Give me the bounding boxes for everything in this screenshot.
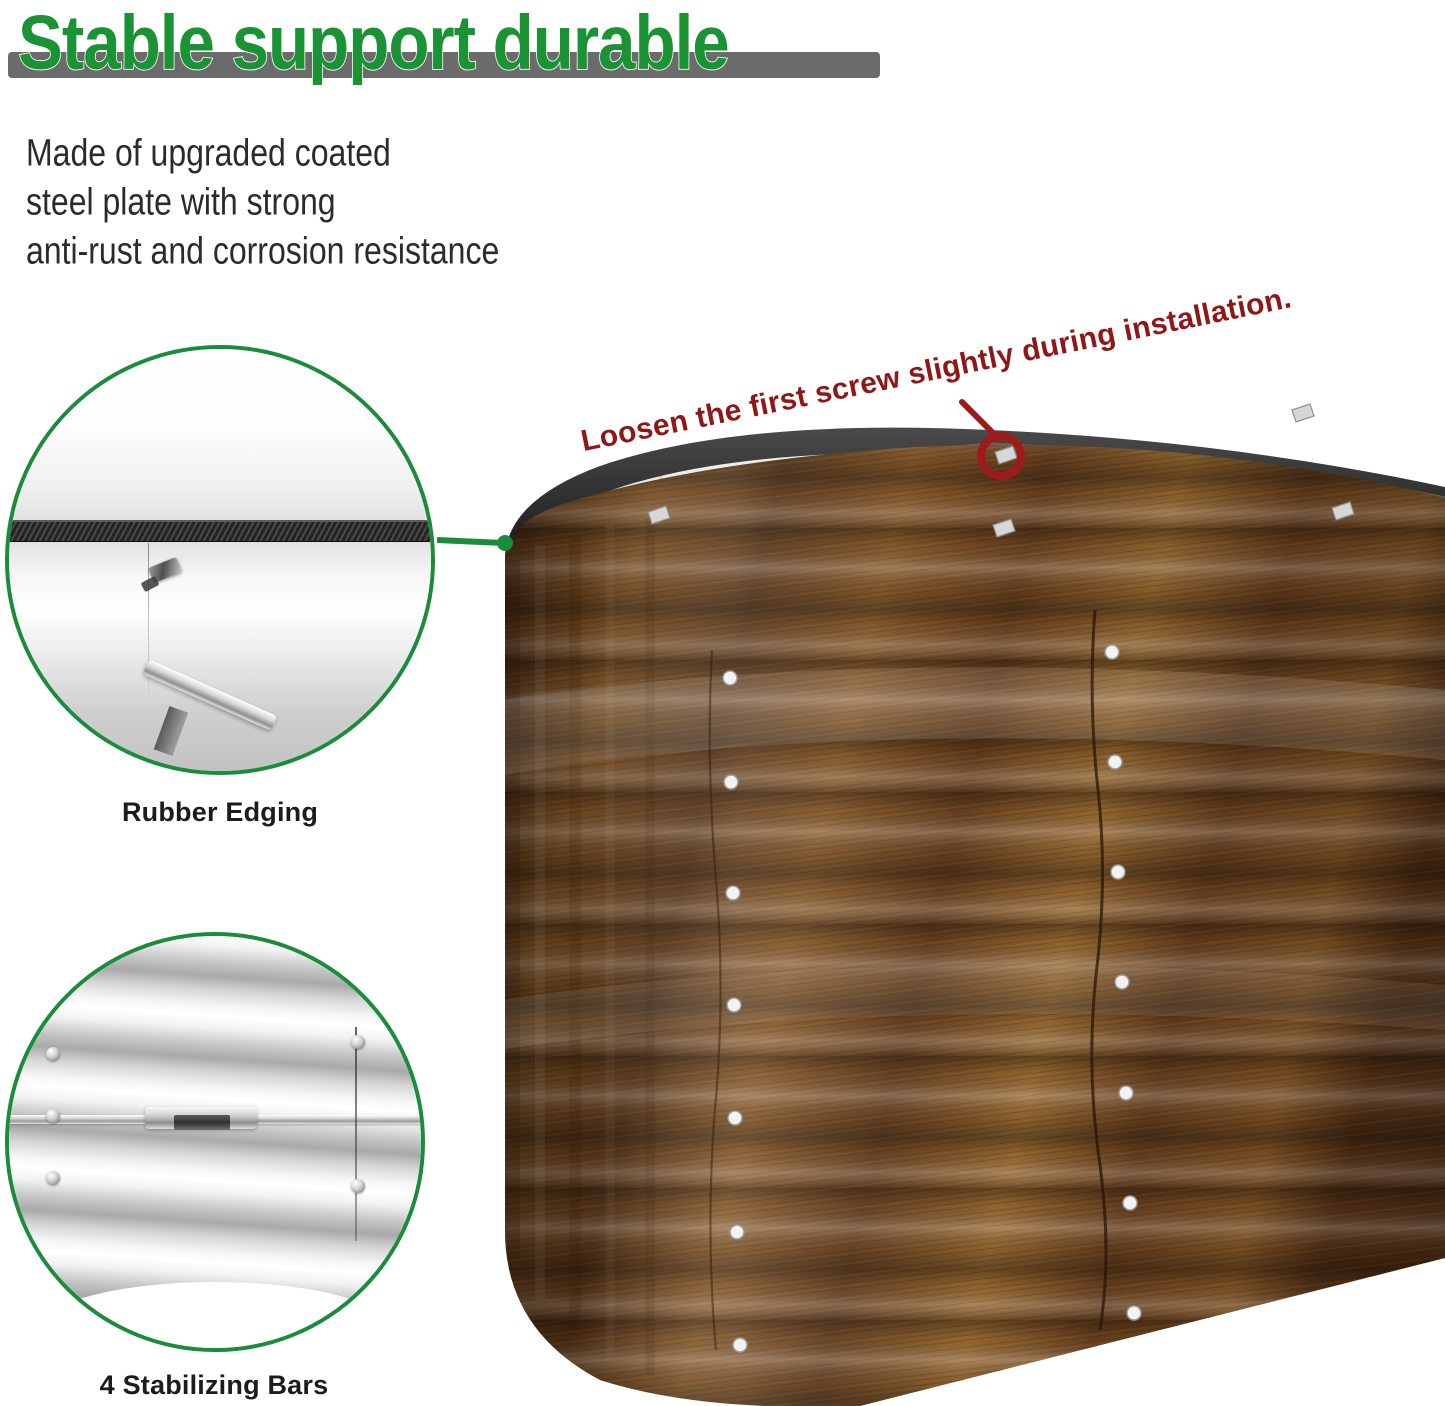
- callout-rubber-edging: Rubber Edging: [5, 345, 435, 835]
- callout-label-stabilizing-bars: 4 Stabilizing Bars: [0, 1370, 429, 1401]
- infographic-page: Stable support durable Made of upgraded …: [0, 0, 1445, 1406]
- planter-body: [480, 420, 1445, 1406]
- rubber-edging-circle: [5, 345, 435, 775]
- turnbuckle-slot: [174, 1115, 230, 1130]
- callout-label-rubber-edging: Rubber Edging: [5, 797, 435, 828]
- stabilizing-bars-photo: [9, 936, 421, 1348]
- leader-line-rubber-edging: [437, 535, 513, 551]
- rubber-edging-photo: [9, 349, 431, 771]
- callout-stabilizing-bars: 4 Stabilizing Bars: [5, 932, 435, 1402]
- stabilizing-bars-circle: [5, 932, 425, 1352]
